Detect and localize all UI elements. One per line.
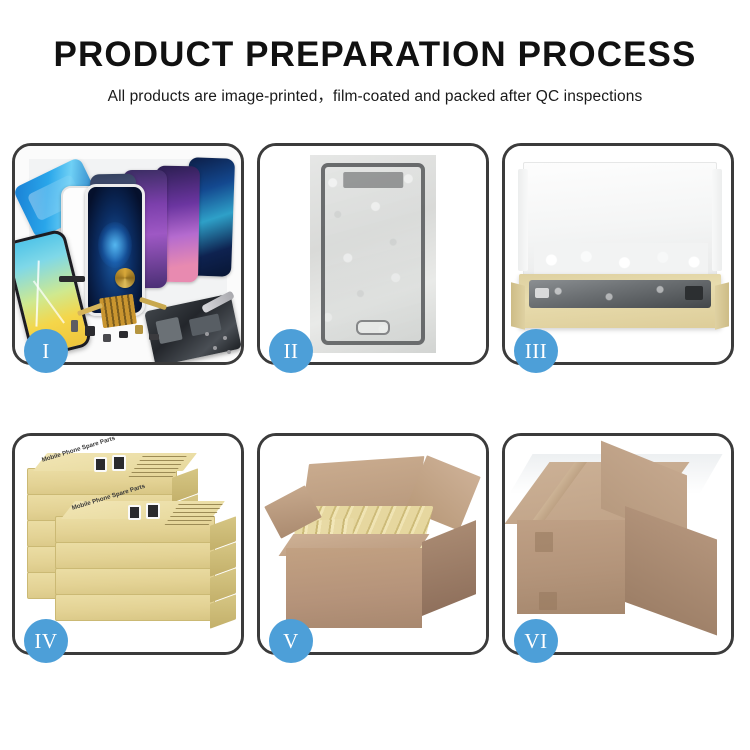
carton-tab-lower xyxy=(539,592,557,610)
box-product-image-2 xyxy=(146,503,160,519)
foam-texture xyxy=(534,243,708,277)
step-badge-6: VI xyxy=(514,619,558,663)
page-title: PRODUCT PREPARATION PROCESS xyxy=(0,37,750,74)
small-component-6 xyxy=(149,334,159,340)
bubble-wrap-sheet xyxy=(310,155,436,353)
carton-front-face xyxy=(286,548,422,628)
earpiece-mesh-icon xyxy=(59,276,85,282)
screw-4 xyxy=(227,350,231,354)
wrapped-screen-in-box xyxy=(529,280,711,308)
step-panel-6: VI xyxy=(502,433,734,655)
step-badge-1: I xyxy=(24,329,68,373)
step-panel-5: V xyxy=(257,433,489,655)
stacked-box xyxy=(55,594,215,621)
step-panel-3: III xyxy=(502,143,734,365)
small-component-5 xyxy=(71,320,78,332)
step-badge-2: II xyxy=(269,329,313,373)
carton-tab-upper xyxy=(535,532,553,552)
screw-3 xyxy=(205,332,209,336)
small-component-3 xyxy=(119,331,128,338)
step-panel-1: I xyxy=(12,143,244,365)
steps-grid: I II III xyxy=(12,143,738,676)
box-product-image-1 xyxy=(128,505,141,520)
screw-2 xyxy=(223,336,227,340)
box-stack: Mobile Phone Spare Parts Mobile Phone Sp… xyxy=(19,444,237,644)
stacked-box xyxy=(55,568,215,595)
white-foam-lid xyxy=(523,162,717,278)
small-component-1 xyxy=(85,326,95,336)
sealed-carton-front-face xyxy=(517,520,625,614)
carton-side-face xyxy=(422,520,476,616)
screw-1 xyxy=(213,346,217,350)
step-panel-2: II xyxy=(257,143,489,365)
step-badge-4: IV xyxy=(24,619,68,663)
stacked-box-top-left: Mobile Phone Spare Parts xyxy=(27,468,177,495)
wrapped-screen-outline xyxy=(321,163,425,345)
speaker-coil-icon xyxy=(115,268,135,288)
stacked-box-top-right: Mobile Phone Spare Parts xyxy=(55,516,215,543)
step-badge-3: III xyxy=(514,329,558,373)
sealed-carton-side-face xyxy=(625,506,717,635)
small-component-4 xyxy=(135,325,143,334)
header: PRODUCT PREPARATION PROCESS All products… xyxy=(0,0,750,106)
stacked-box xyxy=(55,542,215,569)
small-component-2 xyxy=(103,334,111,342)
box-product-image-2 xyxy=(112,455,126,471)
product-preparation-infographic: PRODUCT PREPARATION PROCESS All products… xyxy=(0,0,750,750)
step-badge-5: V xyxy=(269,619,313,663)
box-product-image-1 xyxy=(94,457,107,472)
page-subtitle: All products are image-printed，film-coat… xyxy=(0,84,750,106)
kraft-box-tray xyxy=(519,274,721,328)
chip-grid-icon xyxy=(99,294,137,328)
step-panel-4: Mobile Phone Spare Parts Mobile Phone Sp… xyxy=(12,433,244,655)
